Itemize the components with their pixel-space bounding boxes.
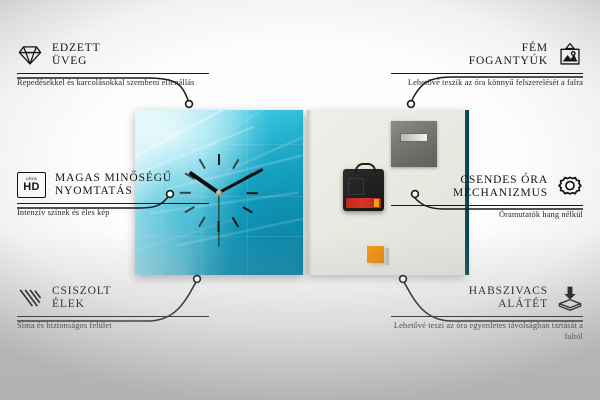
callout-header: EDZETTÜVEG — [17, 42, 209, 68]
callout-header: HABSZIVACSALÁTÉT — [391, 285, 583, 311]
callout-rule — [391, 73, 583, 74]
callout-rule — [391, 205, 583, 206]
callout-rule — [391, 316, 583, 317]
callout-title: MAGAS MINŐSÉGŰNYOMTATÁS — [55, 172, 172, 198]
callout-subtitle: Repedésekkel és karcolásokkal szembeni e… — [17, 78, 209, 89]
callout-header: CSISZOLTÉLEK — [17, 285, 209, 311]
callout-rule — [17, 203, 209, 204]
callout-rule — [17, 316, 209, 317]
polished-edges-icon — [17, 285, 43, 311]
callout-fem-fogantyuk: FÉMFOGANTYÚK Lehetővé teszik az óra könn… — [391, 42, 583, 89]
callout-habszivacs-alatet: HABSZIVACSALÁTÉT Lehetővé teszi az óra e… — [391, 285, 583, 342]
diamond-icon — [17, 42, 43, 68]
hanger-slot — [400, 133, 428, 142]
callout-subtitle: Lehetővé teszi az óra egyenletes távolsá… — [391, 321, 583, 342]
callout-subtitle: Intenzív színek és éles kép — [17, 208, 209, 219]
callout-csendes-ora-mechanizmus: CSENDES ÓRAMECHANIZMUS Óramutatók hang n… — [391, 174, 583, 221]
mechanism-seam — [348, 178, 364, 195]
callout-rule — [17, 73, 209, 74]
callout-title: HABSZIVACSALÁTÉT — [469, 285, 548, 311]
metal-hanger-plate — [391, 121, 437, 167]
callout-magas-minosegu-nyomtatas: ultra HD MAGAS MINŐSÉGŰNYOMTATÁS Intenzí… — [17, 172, 209, 219]
callout-subtitle: Lehetővé teszik az óra könnyű felszerelé… — [391, 78, 583, 89]
callout-edzett-uveg: EDZETTÜVEG Repedésekkel és karcolásokkal… — [17, 42, 209, 89]
picture-hanger-icon — [557, 42, 583, 68]
callout-title: CSENDES ÓRAMECHANIZMUS — [453, 174, 548, 200]
callout-csiszolt-elek: CSISZOLTÉLEK Sima és biztonságos felület — [17, 285, 209, 332]
connector-node — [408, 101, 415, 108]
callout-title: CSISZOLTÉLEK — [52, 285, 111, 311]
ultra-hd-icon-main: HD — [23, 182, 40, 193]
connector-node — [400, 276, 407, 283]
foam-pad-icon — [557, 285, 583, 311]
callout-title: EDZETTÜVEG — [52, 42, 101, 68]
connector-node — [186, 101, 193, 108]
callout-header: FÉMFOGANTYÚK — [391, 42, 583, 68]
callout-subtitle: Óramutatók hang nélkül — [391, 210, 583, 221]
infographic-canvas: EDZETTÜVEG Repedésekkel és karcolásokkal… — [0, 0, 600, 400]
battery-compartment — [346, 198, 381, 208]
connector-node — [194, 276, 201, 283]
clock-center-pin — [216, 190, 222, 196]
callout-subtitle: Sima és biztonságos felület — [17, 321, 209, 332]
mechanism-hanging-loop — [355, 163, 376, 174]
ultra-hd-icon: ultra HD — [17, 172, 46, 198]
callout-header: ultra HD MAGAS MINŐSÉGŰNYOMTATÁS — [17, 172, 209, 198]
gear-icon — [557, 174, 583, 200]
callout-title: FÉMFOGANTYÚK — [469, 42, 548, 68]
foam-spacer-pad — [367, 246, 384, 263]
callout-header: CSENDES ÓRAMECHANIZMUS — [391, 174, 583, 200]
clock-mechanism — [343, 169, 384, 211]
